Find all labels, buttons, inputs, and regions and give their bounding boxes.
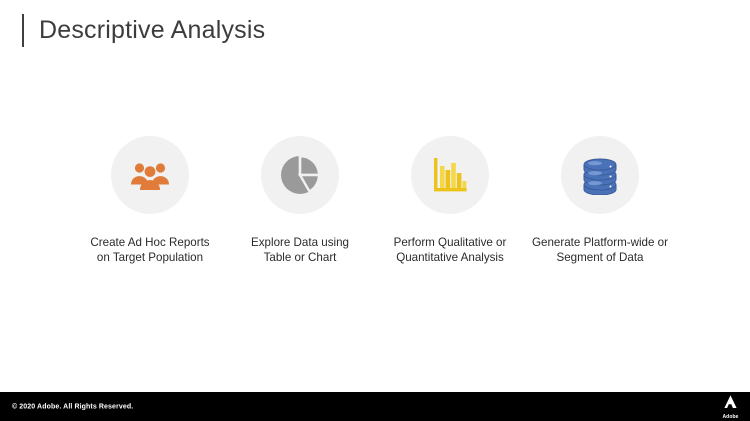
- item-caption-2: Explore Data using Table or Chart: [215, 235, 385, 265]
- item-caption-1-line2: on Target Population: [65, 250, 235, 265]
- icon-circle-4: [561, 136, 639, 214]
- adobe-logo: Adobe: [722, 394, 739, 420]
- page-title-text: Descriptive Analysis: [39, 18, 265, 43]
- adobe-a-icon: [722, 394, 739, 414]
- pie-chart-icon: [279, 154, 321, 196]
- item-caption-1: Create Ad Hoc Reports on Target Populati…: [65, 235, 235, 265]
- item-caption-2-line1: Explore Data using: [251, 236, 349, 249]
- item-perform-analysis[interactable]: Perform Qualitative or Quantitative Anal…: [375, 136, 525, 265]
- footer-copyright: © 2020 Adobe. All Rights Reserved.: [12, 403, 133, 410]
- slide-canvas: Descriptive Analysis: [0, 0, 750, 421]
- footer-bar: © 2020 Adobe. All Rights Reserved. Adobe: [0, 392, 750, 421]
- database-icon: [582, 155, 618, 195]
- title-accent-bar: [22, 14, 24, 47]
- item-caption-2-line2: Table or Chart: [215, 250, 385, 265]
- page-title: Descriptive Analysis: [22, 12, 265, 48]
- icon-circle-1: [111, 136, 189, 214]
- item-explore-data[interactable]: Explore Data using Table or Chart: [225, 136, 375, 265]
- item-caption-3: Perform Qualitative or Quantitative Anal…: [365, 235, 535, 265]
- adobe-logo-text: Adobe: [722, 415, 738, 420]
- item-caption-1-line1: Create Ad Hoc Reports: [90, 236, 209, 249]
- item-caption-4-line1: Generate Platform-wide or: [532, 236, 668, 249]
- item-caption-4-line2: Segment of Data: [515, 250, 685, 265]
- item-generate-platform-data[interactable]: Generate Platform-wide or Segment of Dat…: [525, 136, 675, 265]
- item-create-ad-hoc-reports[interactable]: Create Ad Hoc Reports on Target Populati…: [75, 136, 225, 265]
- icon-item-row: Create Ad Hoc Reports on Target Populati…: [0, 136, 750, 265]
- item-caption-4: Generate Platform-wide or Segment of Dat…: [515, 235, 685, 265]
- icon-circle-2: [261, 136, 339, 214]
- item-caption-3-line1: Perform Qualitative or: [394, 236, 507, 249]
- people-group-icon: [130, 159, 170, 191]
- bar-chart-icon: [431, 156, 469, 194]
- icon-circle-3: [411, 136, 489, 214]
- item-caption-3-line2: Quantitative Analysis: [365, 250, 535, 265]
